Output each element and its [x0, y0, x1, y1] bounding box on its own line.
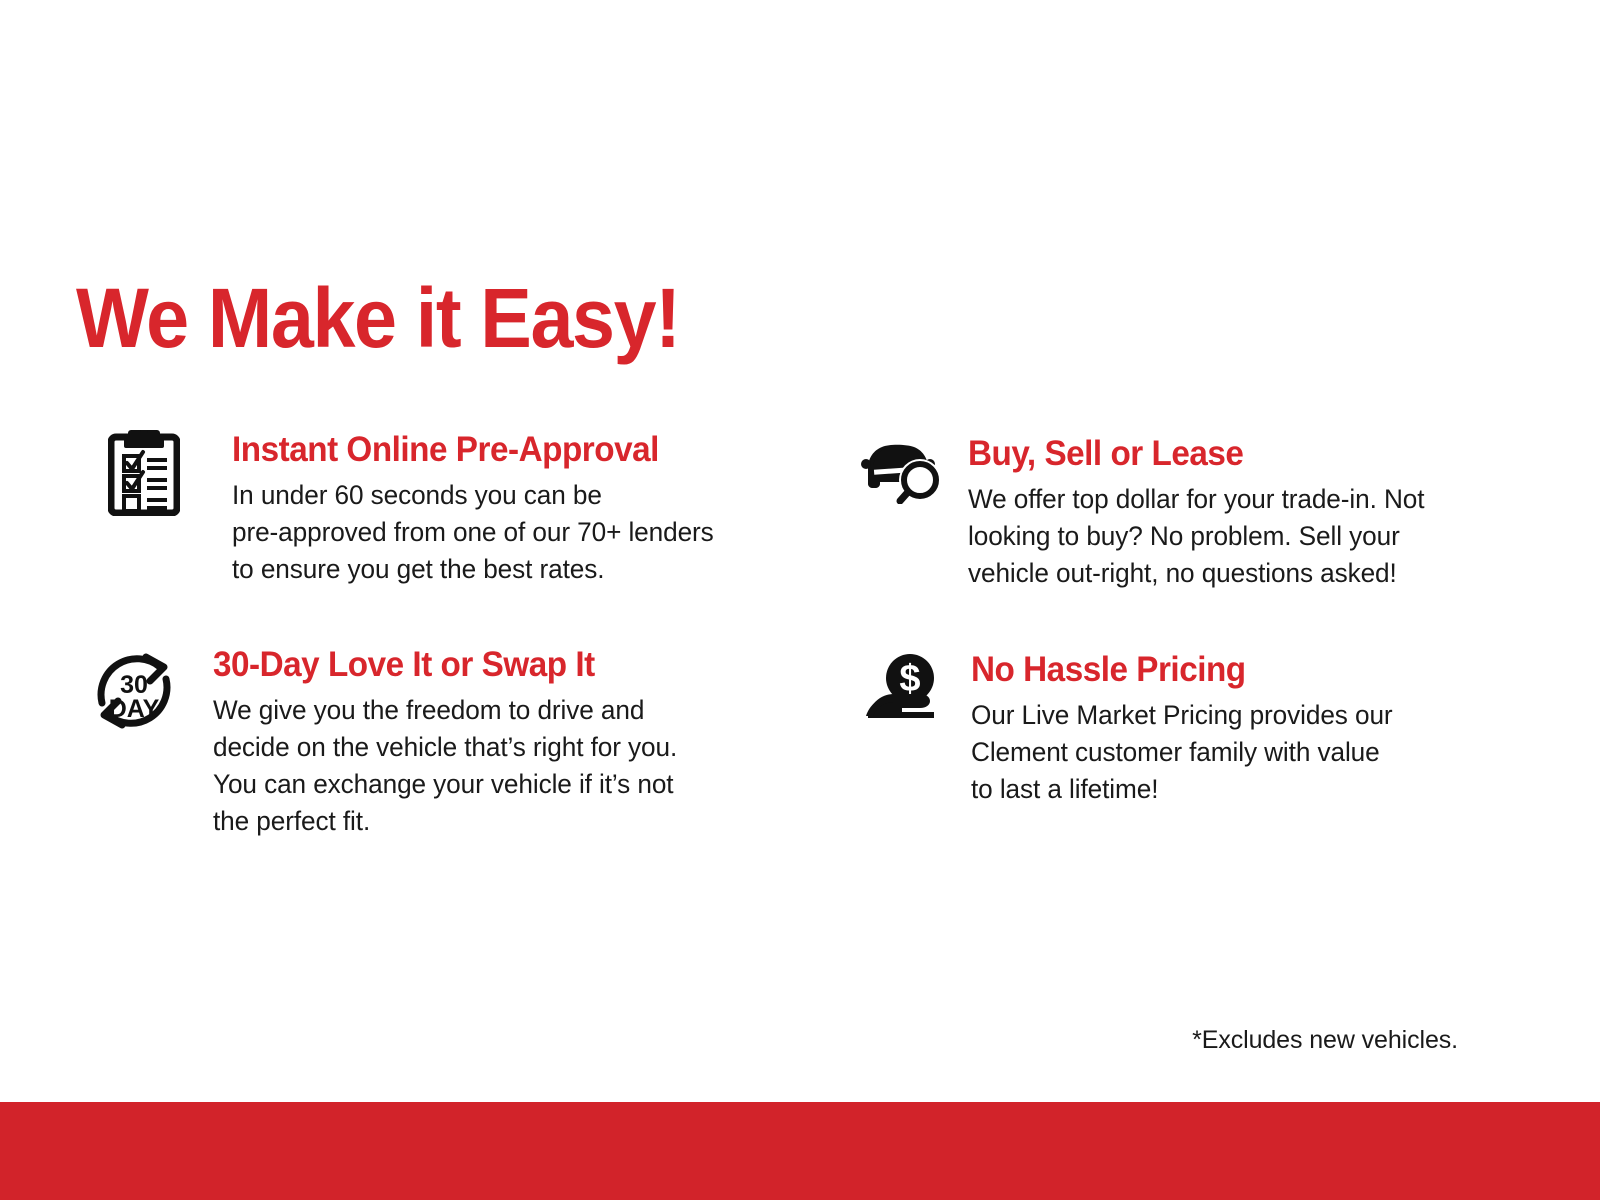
thirty-day-icon-label: DAY: [109, 695, 160, 723]
car-magnifier-icon: [855, 434, 947, 526]
feature-list: Instant Online Pre-Approval In under 60 …: [0, 0, 1600, 1200]
feature-text: No Hassle Pricing Our Live Market Pricin…: [971, 650, 1406, 808]
thirty-day-cycle-icon: 30 DAY: [88, 645, 180, 737]
hand-dollar-coin-icon: $: [858, 650, 950, 742]
feature-body: We give you the freedom to drive and dec…: [213, 685, 677, 840]
feature-text: 30-Day Love It or Swap It We give you th…: [213, 645, 692, 840]
promo-page: We Make it Easy!: [0, 0, 1600, 1200]
feature-body: Our Live Market Pricing provides our Cle…: [971, 690, 1393, 808]
feature-title: Buy, Sell or Lease: [968, 434, 1415, 474]
feature-text: Buy, Sell or Lease We offer top dollar f…: [968, 434, 1439, 592]
feature-title: Instant Online Pre-Approval: [232, 430, 704, 470]
feature-body: In under 60 seconds you can be pre-appro…: [232, 470, 714, 588]
feature-text: Instant Online Pre-Approval In under 60 …: [232, 430, 729, 588]
feature-title: No Hassle Pricing: [971, 650, 1384, 690]
feature-title: 30-Day Love It or Swap It: [213, 645, 668, 685]
feature-body: We offer top dollar for your trade-in. N…: [968, 474, 1424, 592]
footer-bar: [0, 1102, 1600, 1200]
footnote-disclaimer: *Excludes new vehicles.: [1192, 1024, 1458, 1056]
clipboard-checklist-icon: [98, 430, 190, 522]
svg-text:$: $: [899, 658, 920, 700]
